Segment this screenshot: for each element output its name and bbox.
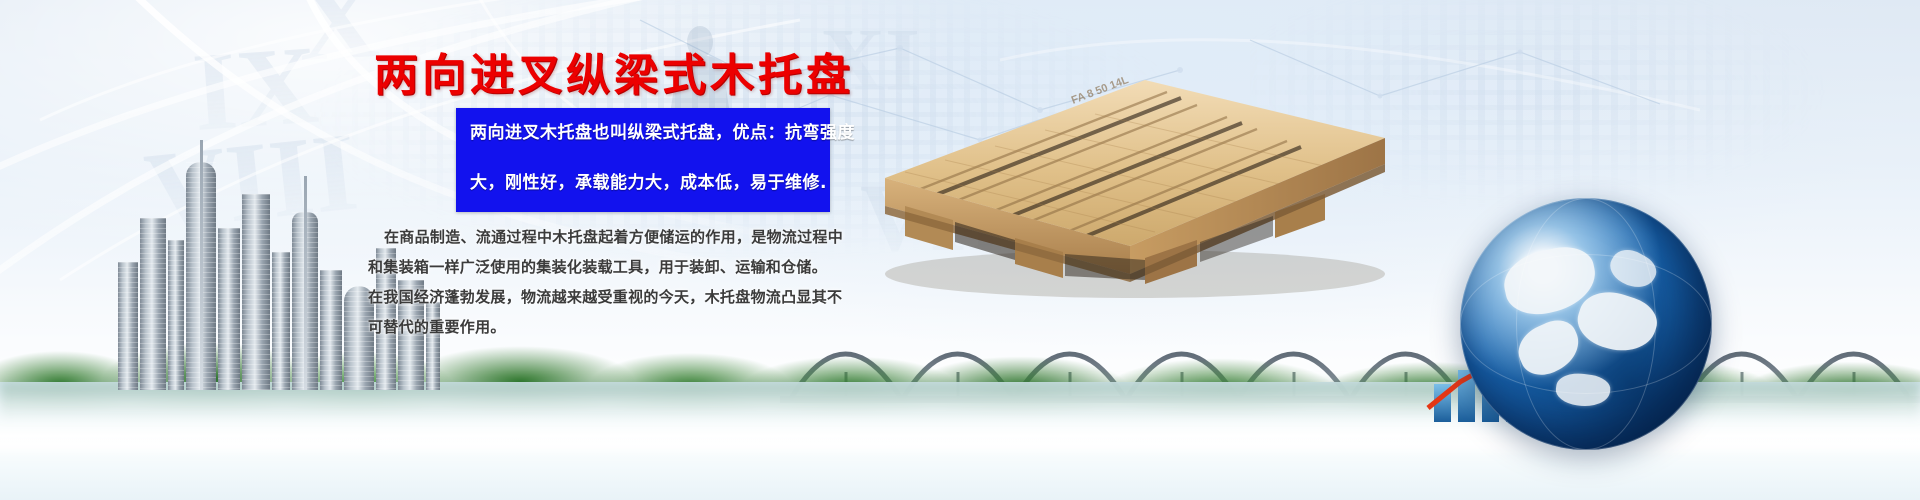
description-line-3: 在我国经济蓬勃发展，物流越来越受重视的今天，木托盘物流凸显其不 [368, 282, 848, 312]
highlight-line-1: 两向进叉木托盘也叫纵梁式托盘，优点：抗弯强度 [456, 108, 830, 158]
description-paragraph: 在商品制造、流通过程中木托盘起着方便储运的作用，是物流过程中 和集装箱一样广泛使… [368, 222, 848, 342]
highlight-line-2: 大，刚性好，承载能力大，成本低，易于维修. [456, 158, 830, 208]
description-line-4: 可替代的重要作用。 [368, 312, 848, 342]
description-line-1: 在商品制造、流通过程中木托盘起着方便储运的作用，是物流过程中 [368, 222, 848, 252]
wooden-pallet-photo: FA 8 50 14L [845, 60, 1405, 310]
globe-earth-graphic [1460, 198, 1712, 450]
product-banner: VIII IX X XI VII VI [0, 0, 1920, 500]
description-line-2: 和集装箱一样广泛使用的集装化装载工具，用于装卸、运输和仓储。 [368, 252, 848, 282]
highlight-callout-box: 两向进叉木托盘也叫纵梁式托盘，优点：抗弯强度 大，刚性好，承载能力大，成本低，易… [456, 108, 830, 212]
page-title: 两向进叉纵梁式木托盘 [374, 50, 854, 102]
